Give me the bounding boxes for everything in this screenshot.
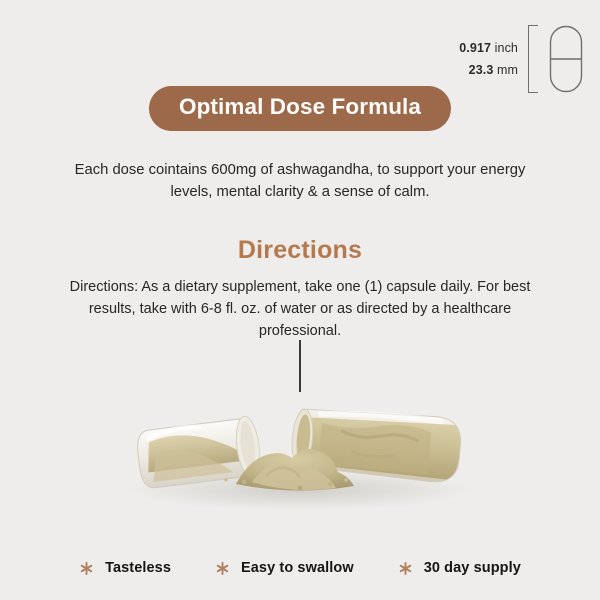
size-spec-inch-unit: inch	[495, 41, 518, 55]
measurement-bracket-icon	[528, 25, 538, 93]
feature-label: Tasteless	[105, 560, 171, 576]
feature-label: 30 day supply	[424, 560, 521, 576]
directions-paragraph: Directions: As a dietary supplement, tak…	[0, 276, 600, 343]
size-spec-inch-value: 0.917	[459, 41, 491, 55]
size-spec-block: 0.917 inch 23.3 mm	[459, 24, 584, 94]
product-photo-open-capsule	[0, 372, 600, 532]
intro-paragraph: Each dose cointains 600mg of ashwagandha…	[0, 159, 600, 204]
feature-item: 30 day supply	[398, 560, 521, 576]
feature-label: Easy to swallow	[241, 560, 354, 576]
asterisk-icon	[398, 561, 413, 576]
title-banner: Optimal Dose Formula	[149, 86, 451, 131]
size-spec-inch: 0.917 inch	[459, 41, 518, 55]
feature-item: Tasteless	[79, 560, 171, 576]
capsule-outline-icon	[548, 24, 584, 94]
asterisk-icon	[79, 561, 94, 576]
page-title: Optimal Dose Formula	[179, 95, 421, 120]
size-spec-mm: 23.3 mm	[469, 63, 518, 77]
size-spec-mm-unit: mm	[497, 63, 518, 77]
feature-row: Tasteless Easy to swallow 30 day supply	[0, 560, 600, 576]
size-spec-values: 0.917 inch 23.3 mm	[459, 41, 518, 77]
asterisk-icon	[215, 561, 230, 576]
feature-item: Easy to swallow	[215, 560, 354, 576]
size-spec-mm-value: 23.3	[469, 63, 494, 77]
directions-heading: Directions	[0, 236, 600, 265]
